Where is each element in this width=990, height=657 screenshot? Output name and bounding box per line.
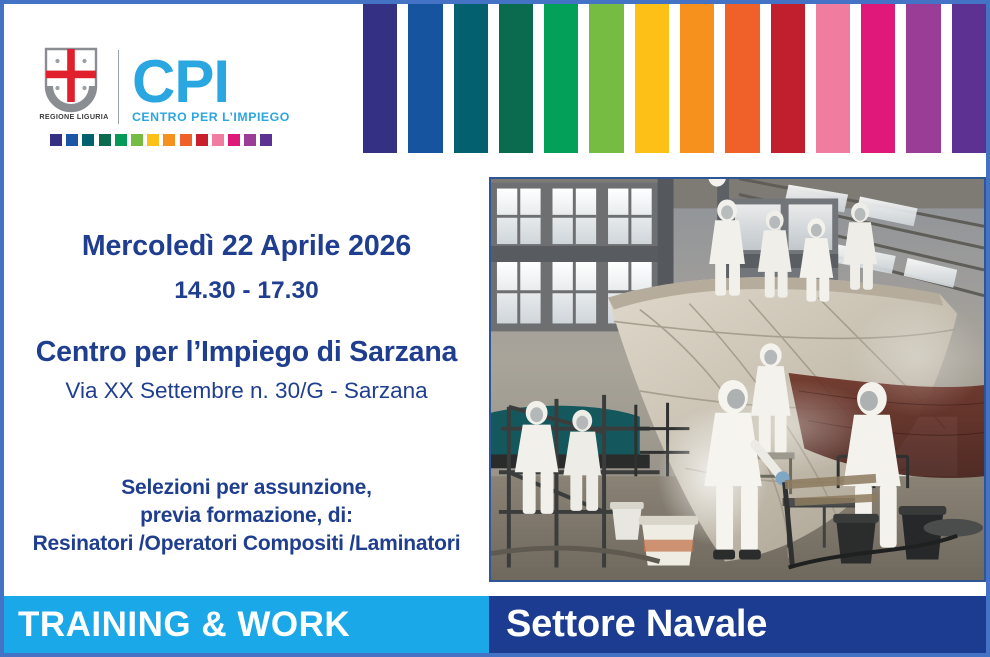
banner-training-work: TRAINING & WORK xyxy=(4,596,489,653)
cpi-tagline: CENTRO PER L’IMPIEGO xyxy=(132,110,290,124)
header-color-bars xyxy=(363,4,986,153)
job-roles-block: Selezioni per assunzione, previa formazi… xyxy=(4,474,489,558)
banner-training-work-label: TRAINING & WORK xyxy=(4,605,350,645)
header-color-bar-6 xyxy=(589,4,623,153)
header-color-bar-13 xyxy=(906,4,940,153)
event-venue: Centro per l’Impiego di Sarzana xyxy=(4,336,489,369)
regione-liguria-shield-icon: REGIONE LIGURIA xyxy=(40,46,102,126)
event-info-column: Mercoledì 22 Aprile 2026 14.30 - 17.30 C… xyxy=(4,156,489,593)
logo-swatch-14 xyxy=(260,134,272,146)
cpi-acronym: CPI xyxy=(132,54,290,109)
cpi-wordmark: CPI CENTRO PER L’IMPIEGO xyxy=(132,54,290,126)
logo-swatch-6 xyxy=(131,134,143,146)
regione-liguria-label: REGIONE LIGURIA xyxy=(38,112,110,121)
logo-swatch-10 xyxy=(196,134,208,146)
poster-header: REGIONE LIGURIA CPI CENTRO PER L’IMPIEGO xyxy=(4,4,986,156)
header-color-bar-3 xyxy=(454,4,488,153)
bottom-banner: TRAINING & WORK Settore Navale xyxy=(4,596,986,653)
header-color-bar-2 xyxy=(408,4,442,153)
logo-swatch-7 xyxy=(147,134,159,146)
logo-swatch-5 xyxy=(115,134,127,146)
header-color-bar-7 xyxy=(635,4,669,153)
event-date: Mercoledì 22 Aprile 2026 xyxy=(4,230,489,263)
logo-swatch-13 xyxy=(244,134,256,146)
header-color-bar-12 xyxy=(861,4,895,153)
header-color-bar-4 xyxy=(499,4,533,153)
header-color-bar-5 xyxy=(544,4,578,153)
header-color-bar-10 xyxy=(771,4,805,153)
poster-body: Mercoledì 22 Aprile 2026 14.30 - 17.30 C… xyxy=(4,156,986,593)
job-roles-line: Selezioni per assunzione, xyxy=(4,474,489,502)
poster-root: REGIONE LIGURIA CPI CENTRO PER L’IMPIEGO… xyxy=(0,0,990,657)
event-address: Via XX Settembre n. 30/G - Sarzana xyxy=(4,378,489,404)
header-color-bar-11 xyxy=(816,4,850,153)
logo-swatch-11 xyxy=(212,134,224,146)
header-color-bar-1 xyxy=(363,4,397,153)
header-color-bar-14 xyxy=(952,4,986,153)
banner-settore-navale-label: Settore Navale xyxy=(489,603,767,646)
shipyard-photo xyxy=(489,177,986,582)
job-roles-line: Resinatori /Operatori Compositi /Laminat… xyxy=(4,530,489,558)
logo-swatch-1 xyxy=(50,134,62,146)
logo-swatch-9 xyxy=(180,134,192,146)
cpi-logo: REGIONE LIGURIA CPI CENTRO PER L’IMPIEGO xyxy=(40,46,290,151)
logo-swatch-3 xyxy=(82,134,94,146)
header-color-bar-9 xyxy=(725,4,759,153)
event-time: 14.30 - 17.30 xyxy=(4,277,489,305)
header-color-bar-8 xyxy=(680,4,714,153)
banner-settore-navale: Settore Navale xyxy=(489,596,986,653)
logo-color-swatches xyxy=(50,134,290,146)
logo-swatch-8 xyxy=(163,134,175,146)
logo-swatch-2 xyxy=(66,134,78,146)
logo-swatch-4 xyxy=(99,134,111,146)
logo-swatch-12 xyxy=(228,134,240,146)
logo-row: REGIONE LIGURIA CPI CENTRO PER L’IMPIEGO xyxy=(40,46,290,126)
logo-divider xyxy=(118,50,119,124)
job-roles-line: previa formazione, di: xyxy=(4,502,489,530)
